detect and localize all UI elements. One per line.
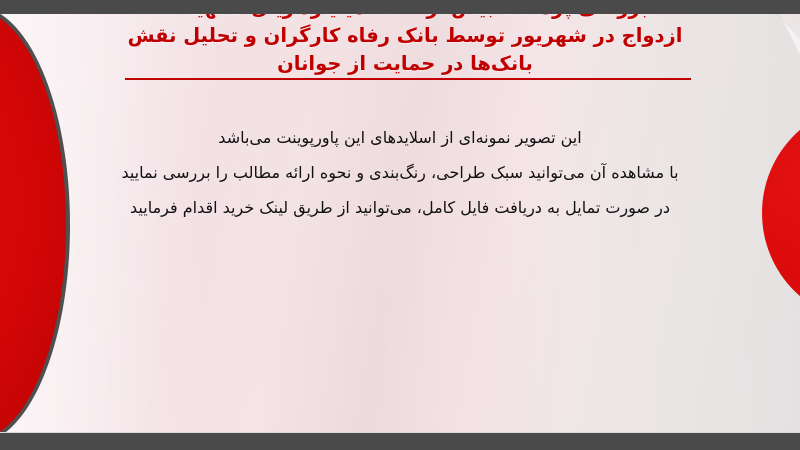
title-underline-rule: [125, 78, 691, 80]
slide-body-text: این تصویر نمونه‌ای از اسلایدهای این پاور…: [50, 120, 750, 225]
title-line-2: ازدواج در شهریور توسط بانک رفاه کارگران …: [60, 22, 750, 50]
body-line-2: با مشاهده آن می‌توانید سبک طراحی، رنگ‌بن…: [50, 155, 750, 190]
body-line-1: این تصویر نمونه‌ای از اسلایدهای این پاور…: [50, 120, 750, 155]
bottom-gray-band: [0, 432, 800, 450]
title-line-3: بانک‌ها در حمایت از جوانان: [60, 50, 750, 78]
top-gray-band: [0, 0, 800, 14]
body-line-3: در صورت تمایل به دریافت فایل کامل، می‌تو…: [50, 190, 750, 225]
presentation-slide: بررسی پرداخت بیش از ۸۸۰۰ میلیارد ریال تس…: [0, 0, 800, 450]
